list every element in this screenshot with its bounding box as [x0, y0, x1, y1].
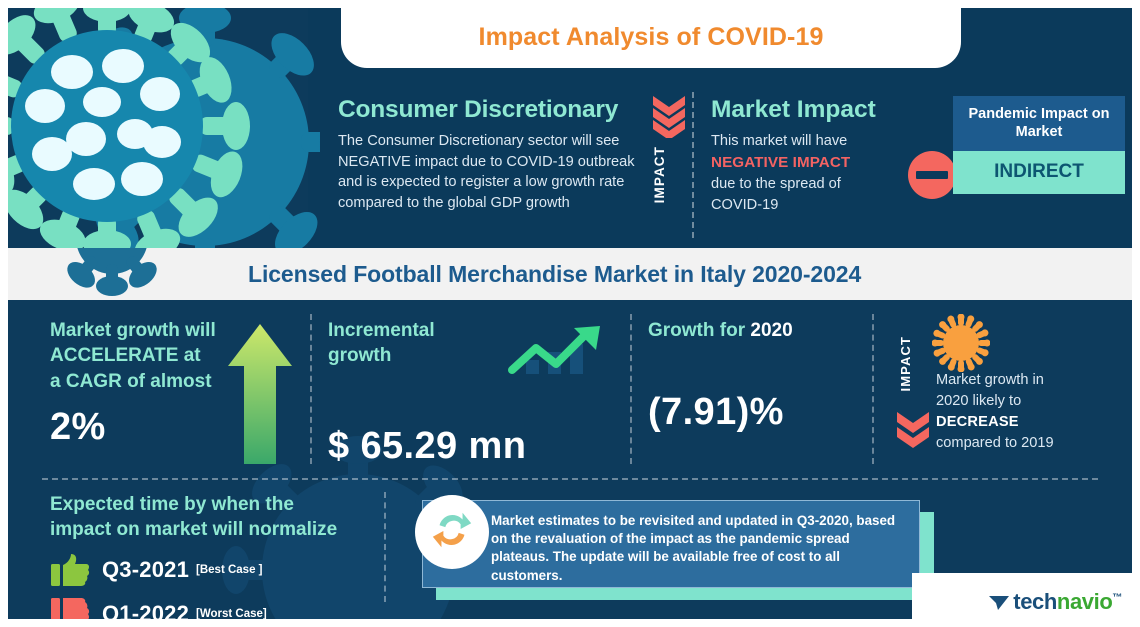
refresh-badge	[415, 495, 489, 569]
no-entry-bar	[916, 171, 948, 179]
impact-indicator-top: IMPACT	[644, 94, 694, 234]
normalize-heading-1: Expected time by when the	[50, 492, 390, 517]
normalize-case-worst: [Worst Case]	[196, 608, 267, 619]
frame-top	[0, 0, 1140, 8]
pandemic-impact-title: Pandemic Impact on Market	[953, 96, 1125, 151]
up-arrow-icon	[226, 322, 294, 464]
growth-outlook-text: Market growth in 2020 likely to DECREASE…	[936, 370, 1132, 454]
metric-growth-label-accent: Growth for	[648, 320, 745, 341]
pandemic-impact-value: INDIRECT	[953, 151, 1125, 194]
market-impact-heading: Market Impact	[711, 96, 901, 124]
divider-vertical-a	[310, 314, 312, 464]
market-impact-emphasis: NEGATIVE IMPACT	[711, 152, 901, 174]
market-impact-line2: due to the spread of	[711, 174, 901, 195]
metric-incremental-value: $ 65.29 mn	[328, 425, 628, 468]
metric-growth-2020: Growth for 2020 (7.91)%	[648, 318, 878, 434]
no-entry-icon	[908, 151, 956, 199]
report-title: Licensed Football Merchandise Market in …	[248, 248, 861, 300]
normalize-case-best: [Best Case ]	[196, 564, 262, 576]
chevron-down-icon	[650, 94, 688, 138]
frame-bottom	[0, 619, 1140, 627]
header-title-pill: Impact Analysis of COVID-19	[341, 8, 961, 68]
callout-box: Market estimates to be revisited and upd…	[422, 500, 920, 588]
market-impact-line1: This market will have	[711, 131, 901, 152]
consumer-discretionary-block: Consumer Discretionary The Consumer Disc…	[338, 96, 648, 214]
market-impact-block: Market Impact This market will have NEGA…	[711, 96, 901, 216]
market-impact-line3: COVID-19	[711, 195, 901, 216]
divider-vertical-b	[630, 314, 632, 464]
infographic-root: Impact Analysis of COVID-19 Consumer Dis…	[0, 0, 1140, 627]
callout-text: Market estimates to be revisited and upd…	[491, 512, 909, 585]
frame-right	[1132, 0, 1140, 627]
trend-up-chart-icon	[508, 324, 612, 380]
normalize-row-worst: Q1-2022 [Worst Case]	[50, 597, 390, 619]
divider-vertical-top	[692, 92, 694, 238]
growth-outlook-line2: 2020 likely to	[936, 391, 1132, 412]
growth-outlook-line1: Market growth in	[936, 370, 1132, 391]
growth-outlook-line3: compared to 2019	[936, 433, 1132, 454]
virus-illustration	[8, 8, 320, 248]
consumer-discretionary-body: The Consumer Discretionary sector will s…	[338, 131, 648, 214]
metric-growth-label-year: 2020	[750, 320, 792, 341]
normalize-quarter-worst: Q1-2022	[102, 601, 189, 619]
normalize-row-best: Q3-2021 [Best Case ]	[50, 553, 390, 587]
thumbs-down-icon	[50, 597, 90, 619]
impact-label-top: IMPACT	[652, 146, 667, 203]
technavio-logo: technavio™	[988, 589, 1122, 615]
metric-growth-value: (7.91)%	[648, 391, 878, 434]
impact-label-right: IMPACT	[898, 336, 913, 391]
normalize-quarter-best: Q3-2021	[102, 557, 189, 583]
virus-orange-icon	[932, 314, 990, 372]
virus-decoration-strip	[52, 248, 172, 300]
normalize-block: Expected time by when the impact on mark…	[50, 492, 390, 619]
consumer-discretionary-heading: Consumer Discretionary	[338, 96, 648, 124]
pandemic-impact-card: Pandemic Impact on Market INDIRECT	[953, 96, 1125, 194]
page-title: Impact Analysis of COVID-19	[479, 23, 824, 52]
normalize-heading-2: impact on market will normalize	[50, 517, 390, 542]
frame-left	[0, 0, 8, 627]
logo-text-navio: navio	[1057, 589, 1112, 614]
growth-outlook-emphasis: DECREASE	[936, 414, 1019, 430]
metric-incremental-growth: Incremental growth $ 65.29 mn	[328, 318, 628, 468]
refresh-icon	[429, 507, 475, 558]
main-band: Market growth will ACCELERATE at a CAGR …	[8, 300, 1132, 619]
chevron-down-icon-right	[894, 410, 932, 454]
logo-trademark: ™	[1112, 593, 1122, 604]
logo-text-tech: tech	[1013, 589, 1057, 614]
report-title-strip: Licensed Football Merchandise Market in …	[8, 248, 1132, 300]
divider-horizontal	[42, 478, 1098, 480]
thumbs-up-icon	[50, 553, 90, 587]
top-band: Impact Analysis of COVID-19 Consumer Dis…	[8, 8, 1132, 248]
technavio-mark-icon	[988, 592, 1010, 612]
